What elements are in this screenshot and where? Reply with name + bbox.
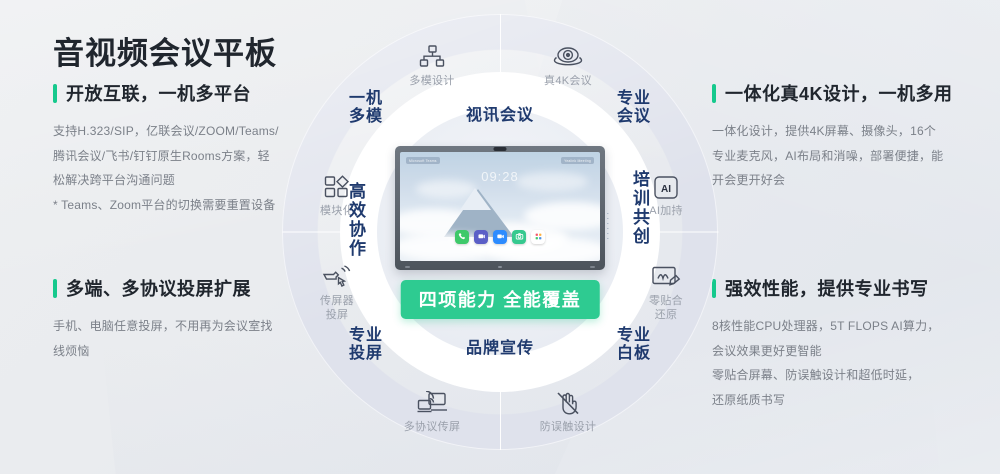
band-label-video-meeting: 视讯会议 — [450, 107, 550, 125]
ring-item-label: 多协议传屏 — [393, 421, 471, 435]
feature-body-line: 腾讯会议/飞书/钉钉原生Rooms方案，轻 — [53, 149, 270, 163]
mountain-snow-graphic — [460, 188, 491, 210]
cast-laptop-icon — [393, 388, 471, 418]
band-label-training-cocreate: 培训共创 — [632, 170, 652, 246]
feature-body-line: 零贴合屏幕、防误触设计和超低时延， — [712, 368, 919, 382]
feature-body-note: * Teams、Zoom平台的切换需要重置设备 — [53, 193, 321, 218]
teams-icon[interactable] — [474, 230, 488, 244]
feature-header: 一体化真4K设计，一机多用 — [712, 80, 980, 106]
feature-title: 强效性能，提供专业书写 — [725, 275, 929, 301]
band-label-efficient-collab: 高效协作 — [348, 182, 368, 258]
feature-header: 开放互联，一机多平台 — [53, 80, 321, 106]
device-dock — [455, 230, 545, 244]
device-camera-icon — [494, 147, 507, 151]
writing-board-icon — [627, 262, 705, 292]
ring-item-label: 防误触设计 — [529, 421, 607, 435]
device-chin-mark-left — [405, 266, 410, 268]
band-label-brand-promo: 品牌宣传 — [450, 340, 550, 358]
ring-item-label: 真4K会议 — [529, 75, 607, 89]
ring-item-label: 零贴合 还原 — [627, 295, 705, 323]
apps-grid-icon[interactable] — [531, 230, 545, 244]
feature-title: 多端、多协议投屏扩展 — [66, 275, 251, 301]
capability-banner: 四项能力 全能覆盖 — [401, 280, 600, 319]
feature-header: 强效性能，提供专业书写 — [712, 275, 980, 301]
camera-icon — [529, 42, 607, 72]
feature-body-line: 还原纸质书写 — [712, 393, 785, 407]
feature-body: 手机、电脑任意投屏，不用再为会议室找 线烦恼 — [53, 314, 321, 363]
screen-share-pen-icon — [298, 262, 376, 292]
ring-item-label: 传屏器 投屏 — [298, 295, 376, 323]
screen-tag-right: Yealink Meeting — [561, 157, 594, 164]
feature-body-line: 专业麦克风，AI布局和消噪，部署便捷，能 — [712, 149, 943, 163]
screen-tag-left: Microsoft Teams — [406, 157, 440, 164]
band-label-pro-whiteboard: 专业 白板 — [612, 327, 656, 364]
ring-item-label: 多模设计 — [393, 75, 471, 89]
palm-reject-icon — [529, 388, 607, 418]
ring-item-multicast[interactable]: 多协议传屏 — [393, 388, 471, 435]
feature-body-line: 一体化设计，提供4K屏幕、摄像头，16个 — [712, 124, 936, 138]
band-label-pro-casting: 专业 投屏 — [344, 327, 388, 364]
band-label-multimode: 一机 多模 — [344, 90, 388, 127]
conference-display-device: 09:28 Microsoft Teams Yealink Meeting — [395, 146, 605, 270]
ring-item-caster[interactable]: 传屏器 投屏 — [298, 262, 376, 323]
feature-body: 8核性能CPU处理器，5T FLOPS AI算力， 会议效果更好更智能 零贴合屏… — [712, 314, 980, 412]
feature-body: 一体化设计，提供4K屏幕、摄像头，16个 专业麦克风，AI布局和消噪，部署便捷，… — [712, 119, 980, 193]
phone-icon[interactable] — [455, 230, 469, 244]
feature-title: 开放互联，一机多平台 — [66, 80, 251, 106]
feature-body-line: 线烦恼 — [53, 344, 90, 358]
ring-item-multimode[interactable]: 多模设计 — [393, 42, 471, 89]
feature-body: 支持H.323/SIP，亿联会议/ZOOM/Teams/ 腾讯会议/飞书/钉钉原… — [53, 119, 321, 217]
feature-body-line: 松解决跨平台沟通问题 — [53, 173, 175, 187]
ring-item-zerobond[interactable]: 零贴合 还原 — [627, 262, 705, 323]
feature-body-line: 支持H.323/SIP，亿联会议/ZOOM/Teams/ — [53, 124, 279, 138]
capability-wheel-diagram: 多模设计 真4K会议 模块化 AI — [282, 14, 718, 450]
feature-title: 一体化真4K设计，一机多用 — [725, 80, 953, 106]
feature-body-line: 会议效果更好更智能 — [712, 344, 822, 358]
ring-item-antitouch[interactable]: 防误触设计 — [529, 388, 607, 435]
page-title: 音视频会议平板 — [53, 28, 277, 73]
feature-open-connect: 开放互联，一机多平台 支持H.323/SIP，亿联会议/ZOOM/Teams/ … — [53, 80, 321, 217]
band-label-pro-meeting: 专业 会议 — [612, 90, 656, 127]
feature-body-line: 开会更开好会 — [712, 173, 785, 187]
device-bezel: 09:28 Microsoft Teams Yealink Meeting — [395, 146, 605, 270]
feature-cast-expand: 多端、多协议投屏扩展 手机、电脑任意投屏，不用再为会议室找 线烦恼 — [53, 275, 321, 363]
feature-body-line: 手机、电脑任意投屏，不用再为会议室找 — [53, 319, 273, 333]
device-clock: 09:28 — [481, 169, 519, 184]
feature-performance: 强效性能，提供专业书写 8核性能CPU处理器，5T FLOPS AI算力， 会议… — [712, 275, 980, 412]
svg-text:AI: AI — [661, 184, 671, 195]
accent-bar-icon — [53, 84, 57, 103]
ring-item-true4k[interactable]: 真4K会议 — [529, 42, 607, 89]
accent-bar-icon — [53, 279, 57, 298]
device-chin-indicator — [498, 266, 502, 268]
device-chin-mark-right — [590, 266, 595, 268]
feature-true-4k: 一体化真4K设计，一机多用 一体化设计，提供4K屏幕、摄像头，16个 专业麦克风… — [712, 80, 980, 193]
zoom-icon[interactable] — [493, 230, 507, 244]
feature-header: 多端、多协议投屏扩展 — [53, 275, 321, 301]
device-screen: 09:28 Microsoft Teams Yealink Meeting — [400, 152, 600, 261]
camera-app-icon[interactable] — [512, 230, 526, 244]
feature-body-line: 8核性能CPU处理器，5T FLOPS AI算力， — [712, 319, 940, 333]
org-chart-icon — [393, 42, 471, 72]
